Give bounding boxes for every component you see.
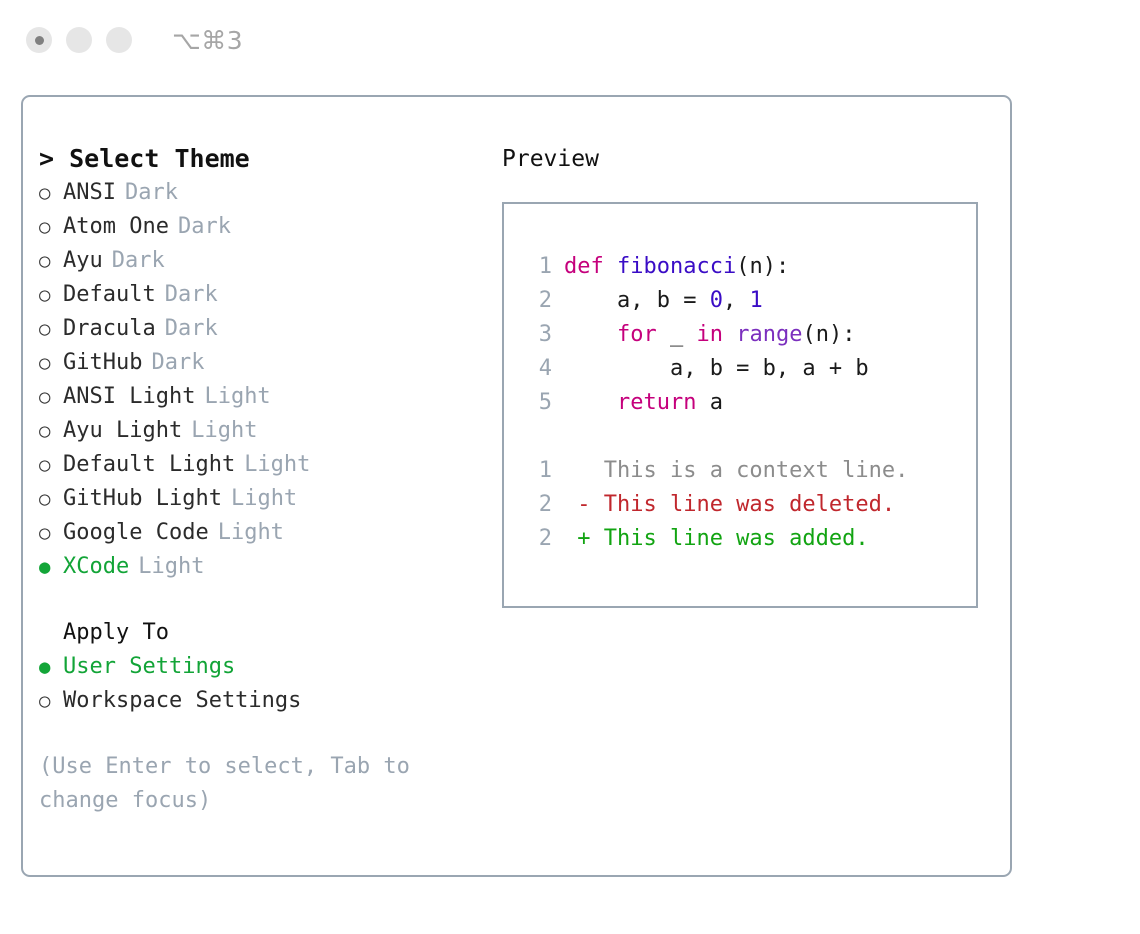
theme-option-variant-tag: Dark	[165, 312, 218, 346]
code-line-text: for _ in range(n):	[564, 318, 855, 352]
apply-to-list: ●User Settings○Workspace Settings	[39, 650, 479, 718]
theme-option-variant-tag: Dark	[165, 278, 218, 312]
theme-option-variant-tag: Dark	[151, 346, 204, 380]
theme-option-label: ANSI Light	[63, 380, 195, 414]
code-line-text: a, b = 0, 1	[564, 284, 763, 318]
code-token	[604, 254, 617, 279]
theme-option-variant-tag: Dark	[112, 244, 165, 278]
code-sample: 1def fibonacci(n):2 a, b = 0, 13 for _ i…	[520, 250, 976, 420]
line-number: 5	[520, 386, 552, 420]
line-number: 2	[520, 522, 552, 556]
code-line-text: This is a context line.	[564, 454, 908, 488]
code-line: 4 a, b = b, a + b	[520, 352, 976, 386]
code-token: def	[564, 254, 604, 279]
window-titlebar: ⌥⌘3	[0, 0, 1140, 80]
theme-option-label: Ayu	[63, 244, 103, 278]
code-token: + This line was added.	[564, 526, 869, 551]
code-line-text: a, b = b, a + b	[564, 352, 869, 386]
code-token: (n):	[736, 254, 789, 279]
code-line-text: return a	[564, 386, 723, 420]
code-token: ,	[723, 288, 750, 313]
theme-option[interactable]: ○Google CodeLight	[39, 516, 479, 550]
radio-selected-icon[interactable]: ●	[39, 550, 63, 584]
theme-option-variant-tag: Light	[244, 448, 310, 482]
line-number: 3	[520, 318, 552, 352]
line-number: 1	[520, 454, 552, 488]
preview-heading: Preview	[502, 142, 992, 176]
code-token: (n):	[802, 322, 855, 347]
radio-unselected-icon[interactable]: ○	[39, 278, 63, 312]
theme-option[interactable]: ○AyuDark	[39, 244, 479, 278]
code-token: for	[617, 322, 657, 347]
code-token: This is a context line.	[564, 458, 908, 483]
apply-to-option[interactable]: ●User Settings	[39, 650, 479, 684]
line-number: 2	[520, 488, 552, 522]
apply-to-option[interactable]: ○Workspace Settings	[39, 684, 479, 718]
line-number: 4	[520, 352, 552, 386]
theme-list: ○ANSIDark○Atom OneDark○AyuDark○DefaultDa…	[39, 176, 479, 584]
theme-option-variant-tag: Light	[138, 550, 204, 584]
main-panel: > Select Theme ○ANSIDark○Atom OneDark○Ay…	[21, 95, 1012, 877]
keyboard-hint-text: (Use Enter to select, Tab to change focu…	[39, 750, 449, 818]
theme-option-variant-tag: Dark	[178, 210, 231, 244]
theme-option-label: Ayu Light	[63, 414, 182, 448]
code-token: range	[736, 322, 802, 347]
theme-option[interactable]: ○ANSIDark	[39, 176, 479, 210]
code-line-text: - This line was deleted.	[564, 488, 895, 522]
theme-option-label: GitHub Light	[63, 482, 222, 516]
theme-option-label: Dracula	[63, 312, 156, 346]
line-number: 2	[520, 284, 552, 318]
select-theme-heading: > Select Theme	[39, 142, 479, 176]
theme-option[interactable]: ○Atom OneDark	[39, 210, 479, 244]
diff-sample: 1 This is a context line.2 - This line w…	[520, 454, 976, 556]
theme-option[interactable]: ○Ayu LightLight	[39, 414, 479, 448]
code-token: - This line was deleted.	[564, 492, 895, 517]
theme-option-label: ANSI	[63, 176, 116, 210]
theme-option-label: GitHub	[63, 346, 142, 380]
code-token: return	[617, 390, 696, 415]
radio-unselected-icon[interactable]: ○	[39, 482, 63, 516]
theme-option[interactable]: ●XCodeLight	[39, 550, 479, 584]
radio-unselected-icon[interactable]: ○	[39, 380, 63, 414]
code-token	[723, 322, 736, 347]
code-line-text: def fibonacci(n):	[564, 250, 789, 284]
code-token: 0	[710, 288, 723, 313]
line-number: 1	[520, 250, 552, 284]
theme-selection-column: > Select Theme ○ANSIDark○Atom OneDark○Ay…	[39, 142, 479, 818]
theme-option-label: Default	[63, 278, 156, 312]
apply-to-heading: Apply To	[39, 616, 479, 650]
radio-unselected-icon[interactable]: ○	[39, 346, 63, 380]
window-dot-active-indicator	[35, 36, 44, 45]
apply-to-option-label: User Settings	[63, 650, 235, 684]
radio-unselected-icon[interactable]: ○	[39, 448, 63, 482]
preview-box: 1def fibonacci(n):2 a, b = 0, 13 for _ i…	[502, 202, 978, 608]
code-line: 2 a, b = 0, 1	[520, 284, 976, 318]
radio-unselected-icon[interactable]: ○	[39, 210, 63, 244]
diff-line: 2 + This line was added.	[520, 522, 976, 556]
window-dot-maximize[interactable]	[106, 27, 132, 53]
code-token: a	[696, 390, 723, 415]
code-line-text: + This line was added.	[564, 522, 869, 556]
radio-unselected-icon[interactable]: ○	[39, 312, 63, 346]
theme-option[interactable]: ○DefaultDark	[39, 278, 479, 312]
diff-line: 1 This is a context line.	[520, 454, 976, 488]
window-controls	[26, 27, 146, 53]
code-line: 3 for _ in range(n):	[520, 318, 976, 352]
window-dot-close[interactable]	[26, 27, 52, 53]
theme-option-variant-tag: Light	[218, 516, 284, 550]
theme-option-label: Atom One	[63, 210, 169, 244]
code-line: 1def fibonacci(n):	[520, 250, 976, 284]
apply-to-option-label: Workspace Settings	[63, 684, 301, 718]
code-token: _	[657, 322, 697, 347]
theme-option-label: Default Light	[63, 448, 235, 482]
radio-unselected-icon[interactable]: ○	[39, 684, 63, 718]
code-token: in	[696, 322, 723, 347]
radio-unselected-icon[interactable]: ○	[39, 244, 63, 278]
theme-option[interactable]: ○GitHub LightLight	[39, 482, 479, 516]
code-token	[564, 322, 617, 347]
theme-option-variant-tag: Light	[191, 414, 257, 448]
theme-option[interactable]: ○DraculaDark	[39, 312, 479, 346]
radio-unselected-icon[interactable]: ○	[39, 516, 63, 550]
code-token	[564, 390, 617, 415]
code-token: a, b =	[564, 288, 710, 313]
code-token: 1	[749, 288, 762, 313]
window-dot-minimize[interactable]	[66, 27, 92, 53]
radio-unselected-icon[interactable]: ○	[39, 176, 63, 210]
keyboard-shortcut-label: ⌥⌘3	[172, 26, 243, 55]
diff-line: 2 - This line was deleted.	[520, 488, 976, 522]
code-line: 5 return a	[520, 386, 976, 420]
radio-selected-icon[interactable]: ●	[39, 650, 63, 684]
code-token: a, b = b, a + b	[564, 356, 869, 381]
code-token: fibonacci	[617, 254, 736, 279]
theme-option-variant-tag: Light	[231, 482, 297, 516]
theme-option-variant-tag: Dark	[125, 176, 178, 210]
theme-option[interactable]: ○Default LightLight	[39, 448, 479, 482]
code-spacer	[520, 420, 976, 454]
theme-option-variant-tag: Light	[204, 380, 270, 414]
theme-option-label: Google Code	[63, 516, 209, 550]
theme-option[interactable]: ○ANSI LightLight	[39, 380, 479, 414]
theme-option-label: XCode	[63, 550, 129, 584]
preview-column: Preview 1def fibonacci(n):2 a, b = 0, 13…	[502, 142, 992, 608]
theme-option[interactable]: ○GitHubDark	[39, 346, 479, 380]
radio-unselected-icon[interactable]: ○	[39, 414, 63, 448]
